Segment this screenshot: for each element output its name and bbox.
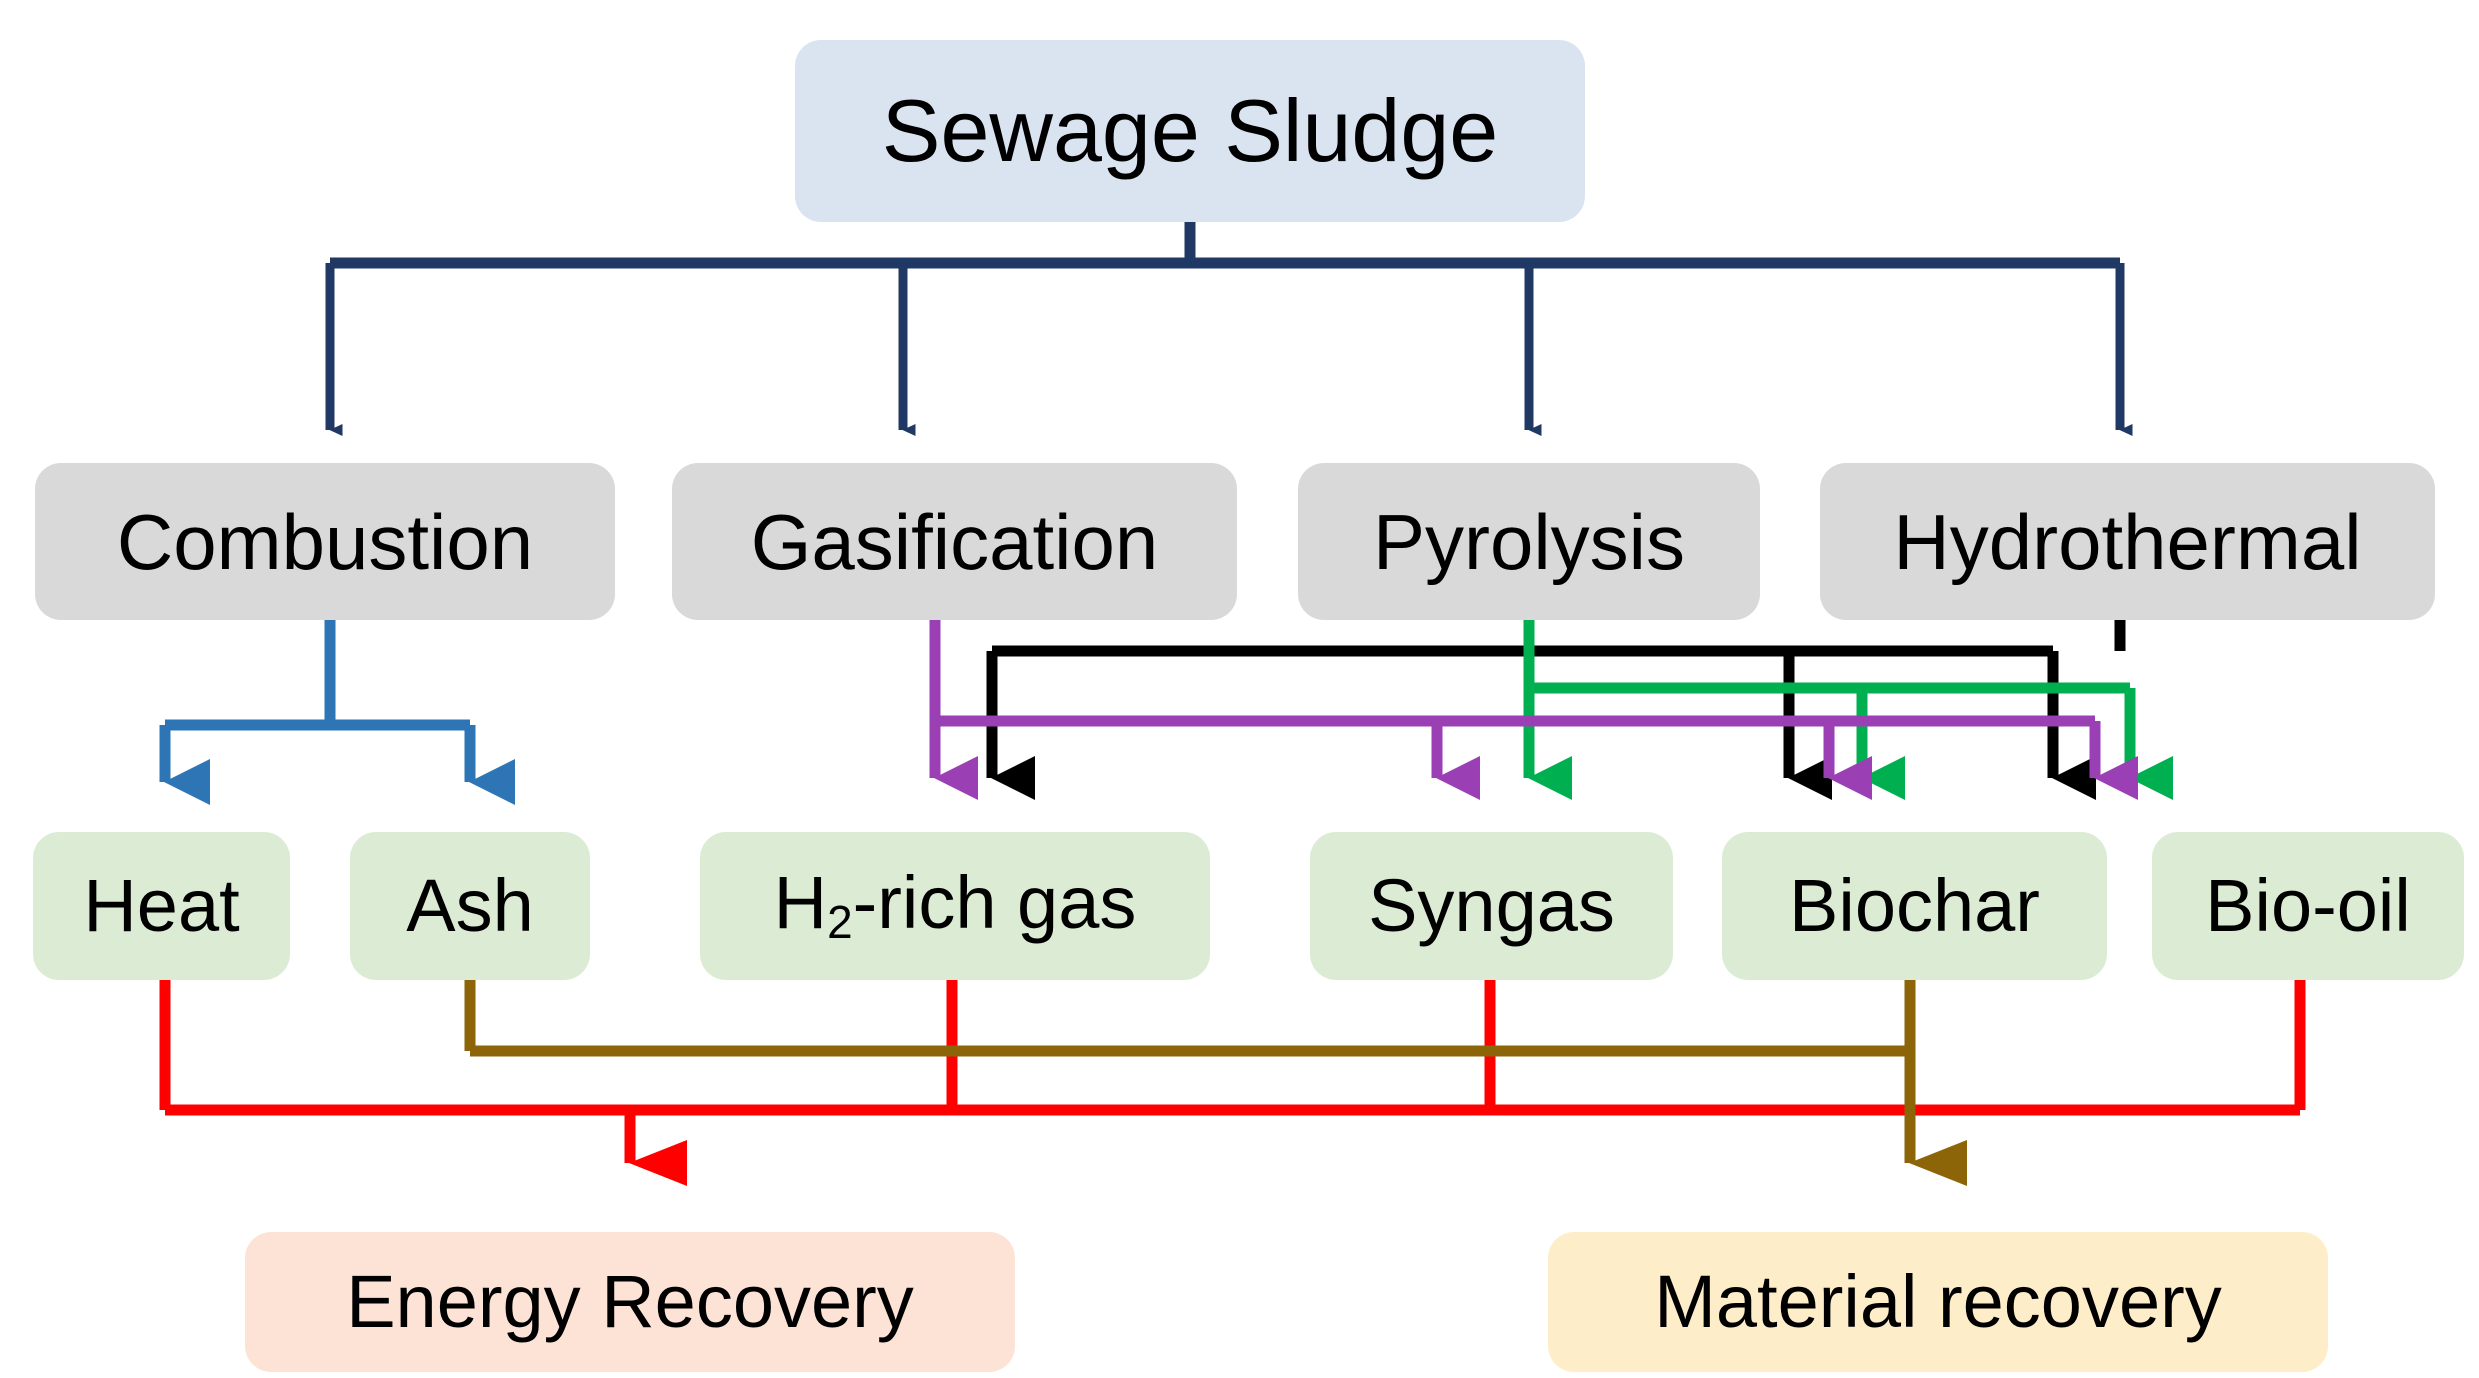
node-combustion[interactable]: Combustion [35, 463, 615, 620]
node-label: Hydrothermal [1893, 503, 2361, 581]
edge-combustion [165, 620, 470, 782]
node-bio-oil[interactable]: Bio-oil [2152, 832, 2464, 980]
node-label: Heat [83, 869, 239, 943]
node-label: Energy Recovery [346, 1265, 914, 1339]
node-material-recovery[interactable]: Material recovery [1548, 1232, 2328, 1372]
edge-feedstock-bus [330, 222, 2120, 263]
node-h2-rich-gas[interactable]: H2-rich gas [700, 832, 1210, 980]
node-label: Material recovery [1654, 1265, 2222, 1339]
h2-subscript: 2 [827, 896, 853, 948]
node-energy-recovery[interactable]: Energy Recovery [245, 1232, 1015, 1372]
node-label: Bio-oil [2205, 869, 2411, 943]
node-biochar[interactable]: Biochar [1722, 832, 2107, 980]
h2-main: H [774, 861, 827, 944]
node-label: Combustion [117, 503, 533, 581]
node-syngas[interactable]: Syngas [1310, 832, 1673, 980]
node-label: Syngas [1368, 869, 1615, 943]
edge-feedstock-drops [330, 263, 2120, 430]
node-pyrolysis[interactable]: Pyrolysis [1298, 463, 1760, 620]
edge-hydrothermal [992, 620, 2120, 778]
h2-rest: -rich gas [853, 861, 1137, 944]
edge-gasification [935, 620, 2095, 778]
node-label: Biochar [1789, 869, 2040, 943]
flowchart-canvas: Sewage Sludge Combustion Gasification Py… [0, 0, 2479, 1378]
node-ash[interactable]: Ash [350, 832, 590, 980]
node-label: H2-rich gas [774, 866, 1137, 946]
node-sewage-sludge[interactable]: Sewage Sludge [795, 40, 1585, 222]
node-label: Gasification [751, 503, 1159, 581]
node-gasification[interactable]: Gasification [672, 463, 1237, 620]
edge-material-recovery [470, 980, 1910, 1163]
node-heat[interactable]: Heat [33, 832, 290, 980]
node-label: Pyrolysis [1373, 503, 1685, 581]
node-hydrothermal[interactable]: Hydrothermal [1820, 463, 2435, 620]
node-label: Ash [406, 869, 534, 943]
edge-energy-recovery [165, 980, 2300, 1163]
node-label: Sewage Sludge [882, 87, 1498, 175]
